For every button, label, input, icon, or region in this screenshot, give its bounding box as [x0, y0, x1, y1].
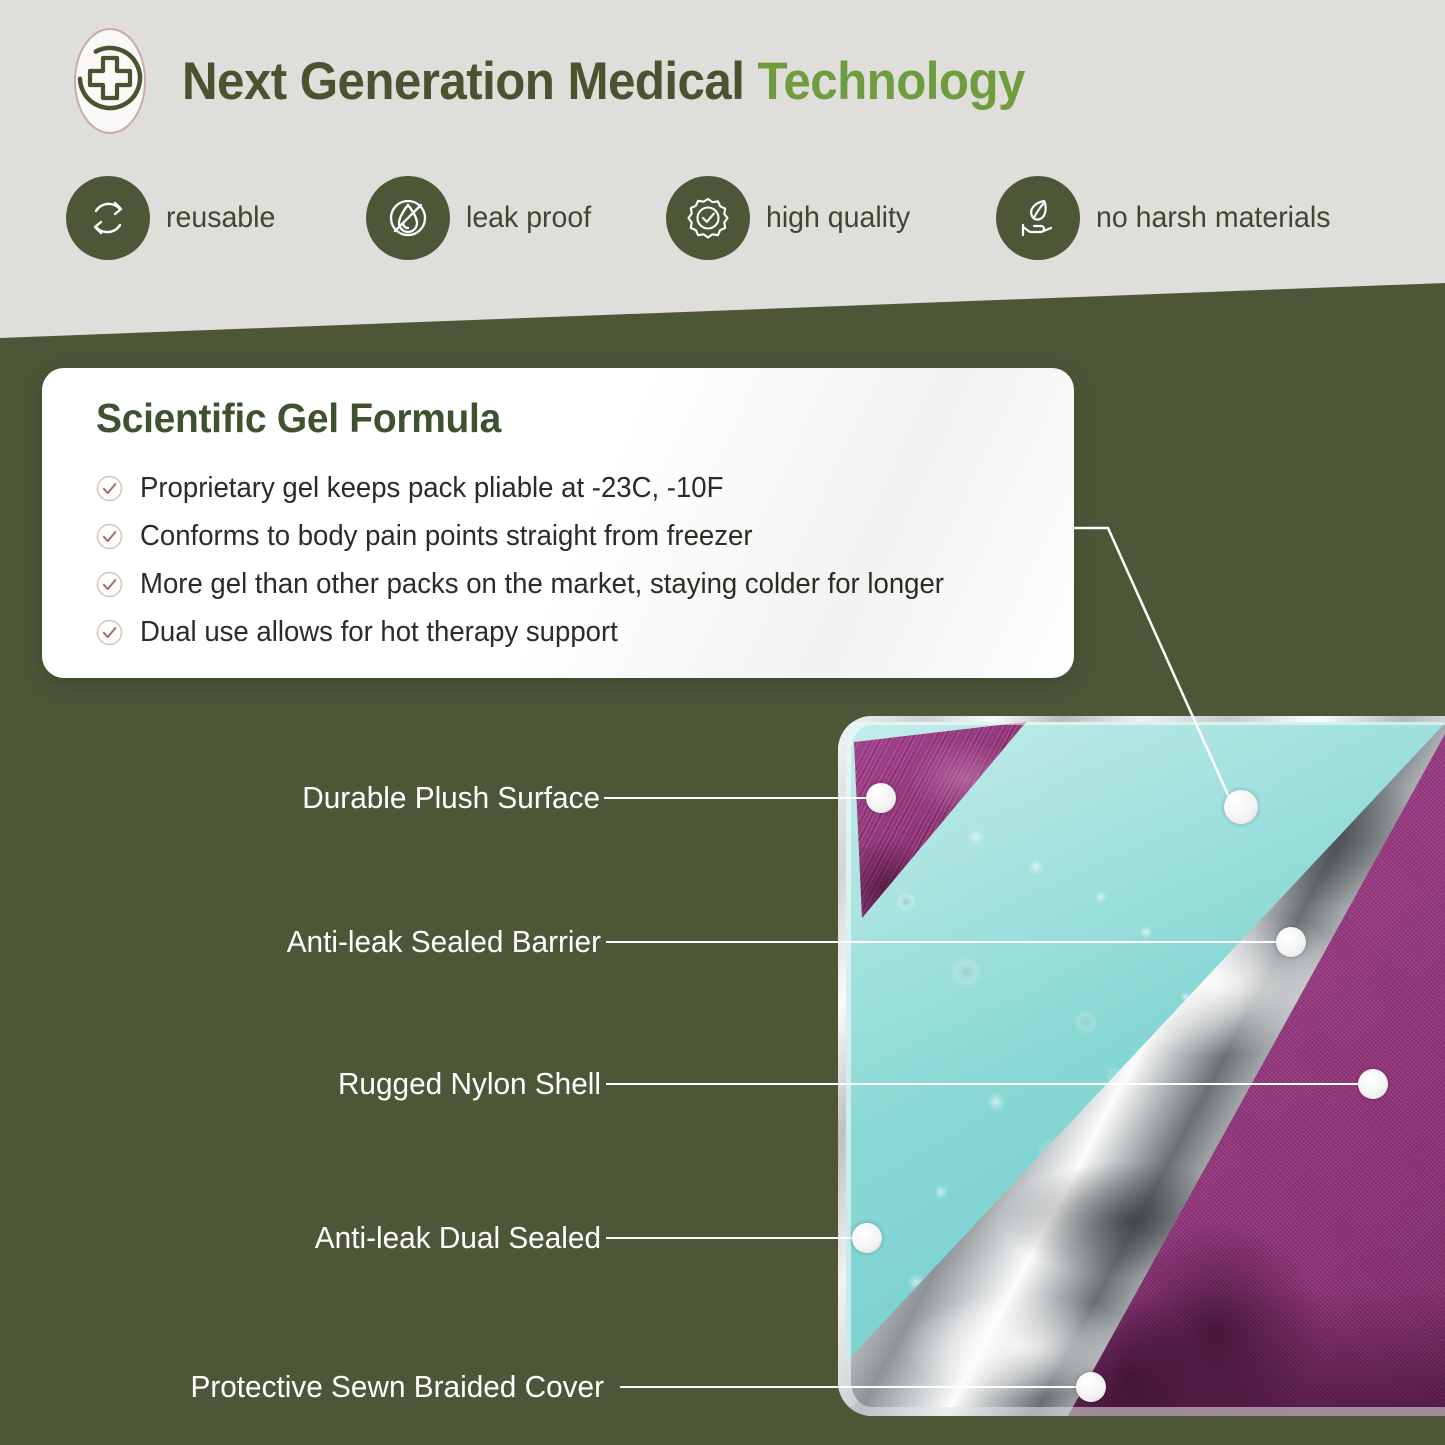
list-item: Dual use allows for hot therapy support: [96, 615, 1034, 649]
callout-dot-dual-sealed[interactable]: [852, 1223, 882, 1253]
callout-label-braided[interactable]: Protective Sewn Braided Cover: [24, 1371, 604, 1402]
circle-check-icon: [96, 475, 123, 502]
no-water-drop-icon: [366, 176, 450, 260]
circle-check-icon: [96, 523, 123, 550]
feature-high-quality: high quality: [666, 176, 996, 260]
feature-label-high-quality: high quality: [766, 203, 910, 233]
list-item-label: Conforms to body pain points straight fr…: [140, 522, 753, 551]
list-item: Proprietary gel keeps pack pliable at -2…: [96, 471, 1034, 505]
feature-leak-proof: leak proof: [366, 176, 666, 260]
list-item-label: Dual use allows for hot therapy support: [140, 618, 618, 647]
callout-label-dual-sealed[interactable]: Anti-leak Dual Sealed: [24, 1222, 601, 1253]
quality-seal-check-icon: [666, 176, 750, 260]
circle-check-icon: [96, 619, 123, 646]
list-item: Conforms to body pain points straight fr…: [96, 519, 1034, 553]
page-title-accent: Technology: [758, 52, 1025, 111]
feature-no-harsh-materials: no harsh materials: [996, 176, 1343, 260]
feature-label-no-harsh-materials: no harsh materials: [1096, 203, 1330, 233]
list-item: More gel than other packs on the market,…: [96, 567, 1034, 601]
card-title: Scientific Gel Formula: [96, 398, 987, 439]
recycle-arrows-icon: [66, 176, 150, 260]
scientific-gel-formula-card: Scientific Gel Formula Proprietary gel k…: [42, 368, 1074, 678]
hand-holding-leaf-icon: [996, 176, 1080, 260]
callout-label-nylon[interactable]: Rugged Nylon Shell: [24, 1068, 601, 1099]
feature-label-leak-proof: leak proof: [466, 203, 591, 233]
product-infographic: Next Generation Medical Technology reusa…: [0, 0, 1445, 1445]
feature-reusable: reusable: [66, 176, 366, 260]
circle-check-icon: [96, 571, 123, 598]
callout-dot-plush[interactable]: [866, 783, 896, 813]
page-title-main: Next Generation Medical: [182, 52, 758, 111]
list-item-label: Proprietary gel keeps pack pliable at -2…: [140, 474, 723, 503]
callout-label-barrier[interactable]: Anti-leak Sealed Barrier: [24, 926, 601, 957]
header-title-row: Next Generation Medical Technology: [62, 26, 1302, 136]
page-title: Next Generation Medical Technology: [182, 55, 1025, 108]
callout-dot-nylon[interactable]: [1358, 1069, 1388, 1099]
callout-dot-braided[interactable]: [1076, 1372, 1106, 1402]
callout-dot-gel-formula[interactable]: [1224, 790, 1258, 824]
gel-feature-list: Proprietary gel keeps pack pliable at -2…: [96, 471, 1034, 649]
medical-cross-circle-icon: [62, 26, 158, 136]
callout-line-dual-sealed: [606, 1237, 862, 1239]
callout-line-plush: [604, 797, 874, 799]
callout-label-plush[interactable]: Durable Plush Surface: [24, 782, 600, 813]
callout-dot-barrier[interactable]: [1276, 927, 1306, 957]
feature-label-reusable: reusable: [166, 203, 275, 233]
list-item-label: More gel than other packs on the market,…: [140, 570, 944, 599]
feature-strip: reusable leak proof high: [66, 176, 1396, 260]
